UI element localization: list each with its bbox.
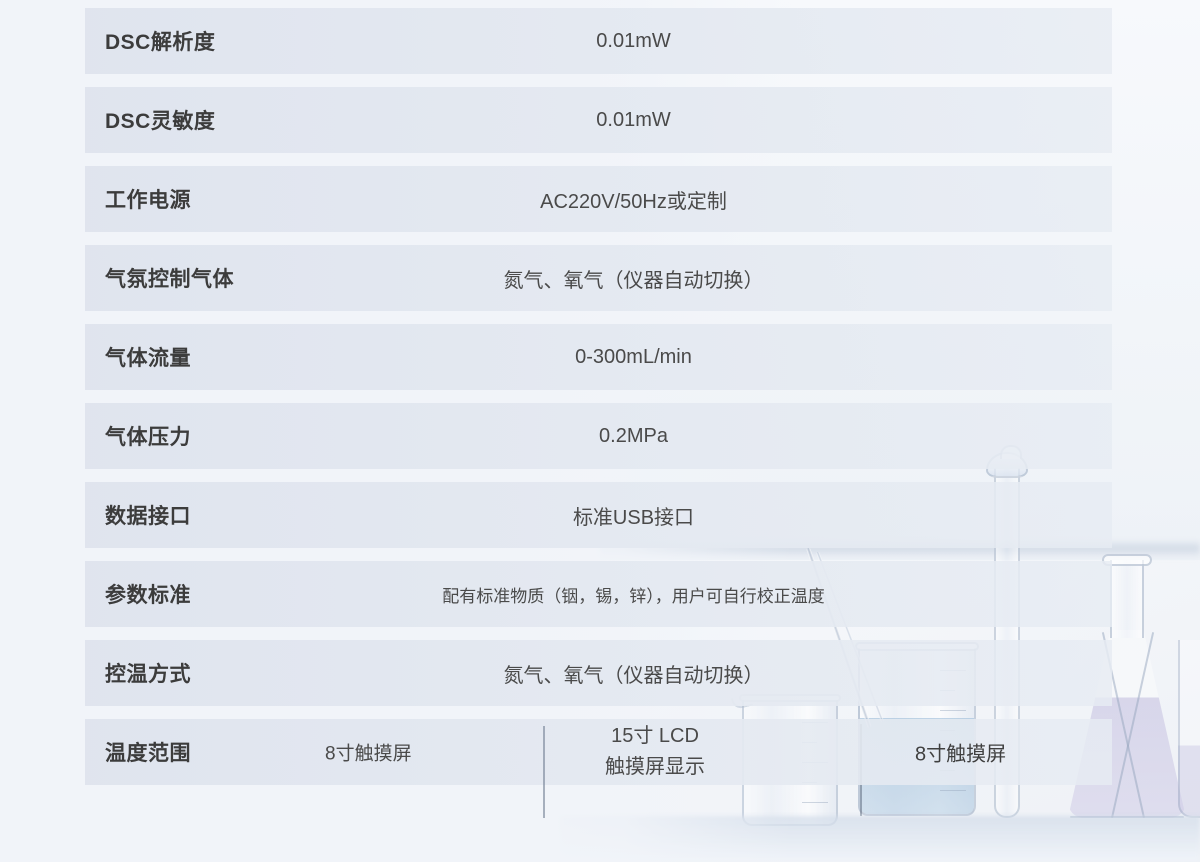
- spec-value: 0.01mW: [315, 30, 1112, 53]
- spec-value-part-a: 8寸触摸屏: [325, 739, 412, 766]
- spec-value-part-b-line2: 触摸屏显示: [605, 756, 705, 778]
- spec-label: DSC解析度: [85, 26, 315, 56]
- spec-label: 参数标准: [85, 579, 315, 609]
- table-row: 工作电源 AC220V/50Hz或定制: [85, 166, 1112, 232]
- table-row: 气体流量 0-300mL/min: [85, 324, 1112, 390]
- spec-value-part-c: 8寸触摸屏: [915, 738, 1006, 767]
- spec-value-group: 8寸触摸屏 15寸 LCD 触摸屏显示 8寸触摸屏: [315, 719, 1112, 785]
- spec-label: 数据接口: [85, 500, 315, 530]
- spec-label: 控温方式: [85, 658, 315, 688]
- table-row: DSC解析度 0.01mW: [85, 8, 1112, 74]
- spec-value: 氮气、氧气（仪器自动切换）: [315, 659, 1112, 688]
- spec-label: 气体流量: [85, 342, 315, 372]
- spec-value-part-b-line1: 15寸 LCD: [611, 725, 699, 747]
- spec-value: 氮气、氧气（仪器自动切换）: [315, 264, 1112, 293]
- table-row: 数据接口 标准USB接口: [85, 482, 1112, 548]
- table-row: 控温方式 氮气、氧气（仪器自动切换）: [85, 640, 1112, 706]
- spec-label: 工作电源: [85, 184, 315, 214]
- spec-value: 0.2MPa: [315, 425, 1112, 448]
- table-row: 气体压力 0.2MPa: [85, 403, 1112, 469]
- table-row: DSC灵敏度 0.01mW: [85, 87, 1112, 153]
- spec-value: AC220V/50Hz或定制: [315, 185, 1112, 214]
- spec-label: DSC灵敏度: [85, 105, 315, 135]
- spec-value-part-b: 15寸 LCD 触摸屏显示: [605, 721, 705, 783]
- spec-value: 0.01mW: [315, 109, 1112, 132]
- spec-label: 气氛控制气体: [85, 263, 315, 293]
- spec-value: 0-300mL/min: [315, 346, 1112, 369]
- table-row: 温度范围 8寸触摸屏 15寸 LCD 触摸屏显示 8寸触摸屏: [85, 719, 1112, 785]
- specification-table: DSC解析度 0.01mW DSC灵敏度 0.01mW 工作电源 AC220V/…: [85, 8, 1112, 798]
- spec-label: 气体压力: [85, 421, 315, 451]
- spec-value: 标准USB接口: [315, 501, 1112, 530]
- spec-value: 配有标准物质（铟，锡，锌），用户可自行校正温度: [315, 582, 1112, 607]
- spec-label: 温度范围: [85, 737, 315, 767]
- vertical-divider: [543, 726, 545, 818]
- table-row: 气氛控制气体 氮气、氧气（仪器自动切换）: [85, 245, 1112, 311]
- spec-page: DSC解析度 0.01mW DSC灵敏度 0.01mW 工作电源 AC220V/…: [0, 0, 1200, 862]
- table-row: 参数标准 配有标准物质（铟，锡，锌），用户可自行校正温度: [85, 561, 1112, 627]
